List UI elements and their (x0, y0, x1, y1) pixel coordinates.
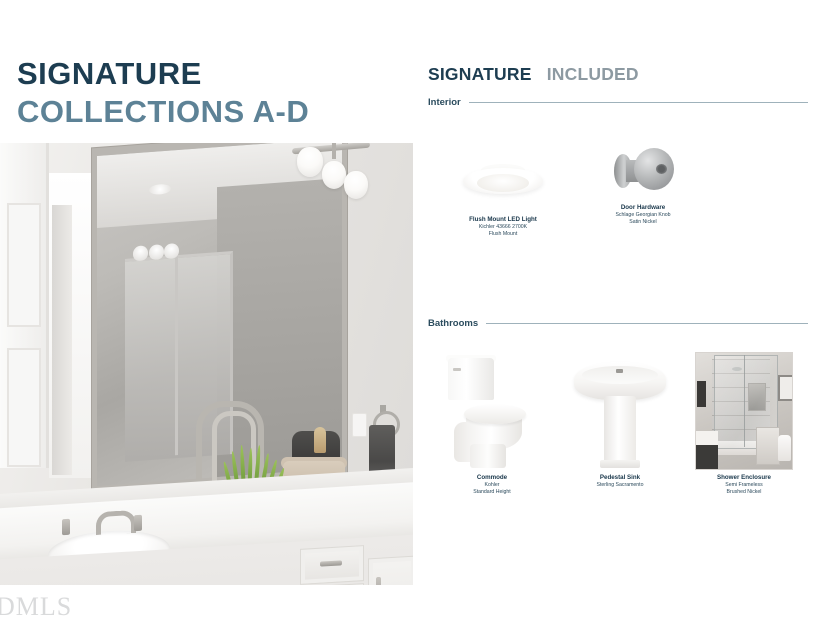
right-panel: SIGNATURE INCLUDED Interior Flush Mount … (428, 0, 810, 637)
shower-enclosure-icon (695, 352, 793, 470)
brand-title-line-2: COLLECTIONS A-D (17, 96, 309, 127)
product-shower-enclosure[interactable]: Shower Enclosure Semi Frameless Brushed … (684, 352, 804, 495)
pedestal-sink-icon (568, 352, 672, 470)
product-name: Door Hardware (621, 204, 665, 212)
product-row-bathrooms: Commode Kohler Standard Height Pedestal … (428, 352, 808, 495)
product-pedestal-sink[interactable]: Pedestal Sink Sterling Sacramento (556, 352, 684, 495)
product-name: Flush Mount LED Light (469, 216, 537, 224)
section-divider-interior (469, 102, 808, 103)
product-name: Pedestal Sink (600, 474, 640, 482)
brand-title-line-1: SIGNATURE (17, 58, 309, 89)
photo-faucet (96, 510, 136, 535)
photo-light-globe-1 (297, 147, 323, 177)
section-header-bathrooms: Bathrooms (428, 318, 808, 329)
product-spec-line-2: Standard Height (473, 489, 511, 496)
photo-door-panel-upper (7, 203, 41, 327)
photo-vanity-light-reflection (133, 243, 179, 262)
product-name: Shower Enclosure (717, 474, 771, 482)
included-heading: SIGNATURE INCLUDED (428, 64, 639, 85)
mls-watermark: DMLS (0, 592, 72, 622)
photo-cabinet-right-pull (376, 577, 381, 585)
bathroom-vanity-photo (0, 143, 413, 585)
product-flush-mount-light[interactable]: Flush Mount LED Light Kichler 43666 2700… (428, 150, 578, 237)
photo-brush (314, 427, 326, 453)
section-divider-bathrooms (486, 323, 808, 324)
photo-faucet-handle-right (134, 515, 142, 531)
product-spec-line-2: Brushed Nickel (727, 489, 762, 496)
photo-light-globe-3 (344, 171, 368, 199)
product-spec-line-1: Kohler (485, 482, 500, 489)
product-spec-line-1: Kichler 43666 2700K (479, 224, 527, 231)
photo-door-jamb (52, 205, 72, 475)
included-heading-primary: SIGNATURE (428, 64, 532, 84)
product-spec-line-1: Schlage Georgian Knob (615, 212, 670, 219)
photo-light-globe-2 (322, 161, 346, 189)
product-commode[interactable]: Commode Kohler Standard Height (428, 352, 556, 495)
product-door-hardware[interactable]: Door Hardware Schlage Georgian Knob Sati… (578, 138, 708, 237)
product-row-interior: Flush Mount LED Light Kichler 43666 2700… (428, 150, 808, 237)
section-header-interior: Interior (428, 97, 808, 108)
section-title-interior: Interior (428, 97, 461, 108)
photo-vanity-light-stem (332, 143, 336, 159)
door-knob-icon (608, 138, 678, 200)
product-spec-line-1: Sterling Sacramento (597, 482, 644, 489)
photo-shower-door-divider (175, 255, 178, 455)
product-spec-line-2: Satin Nickel (629, 219, 656, 226)
photo-faucet-handle-left (62, 519, 70, 535)
section-title-bathrooms: Bathrooms (428, 318, 478, 329)
toilet-icon (440, 352, 544, 470)
product-name: Commode (477, 474, 507, 482)
included-heading-secondary: INCLUDED (547, 64, 639, 84)
left-panel: SIGNATURE COLLECTIONS A-D (0, 0, 413, 637)
photo-door-panel-lower (7, 348, 41, 467)
flush-mount-light-icon (455, 150, 551, 212)
photo-wall-outlet (352, 413, 367, 437)
product-spec-line-1: Semi Frameless (725, 482, 762, 489)
page-title: SIGNATURE COLLECTIONS A-D (17, 58, 309, 127)
product-spec-line-2: Flush Mount (489, 231, 518, 238)
photo-cabinet-right (368, 556, 413, 585)
